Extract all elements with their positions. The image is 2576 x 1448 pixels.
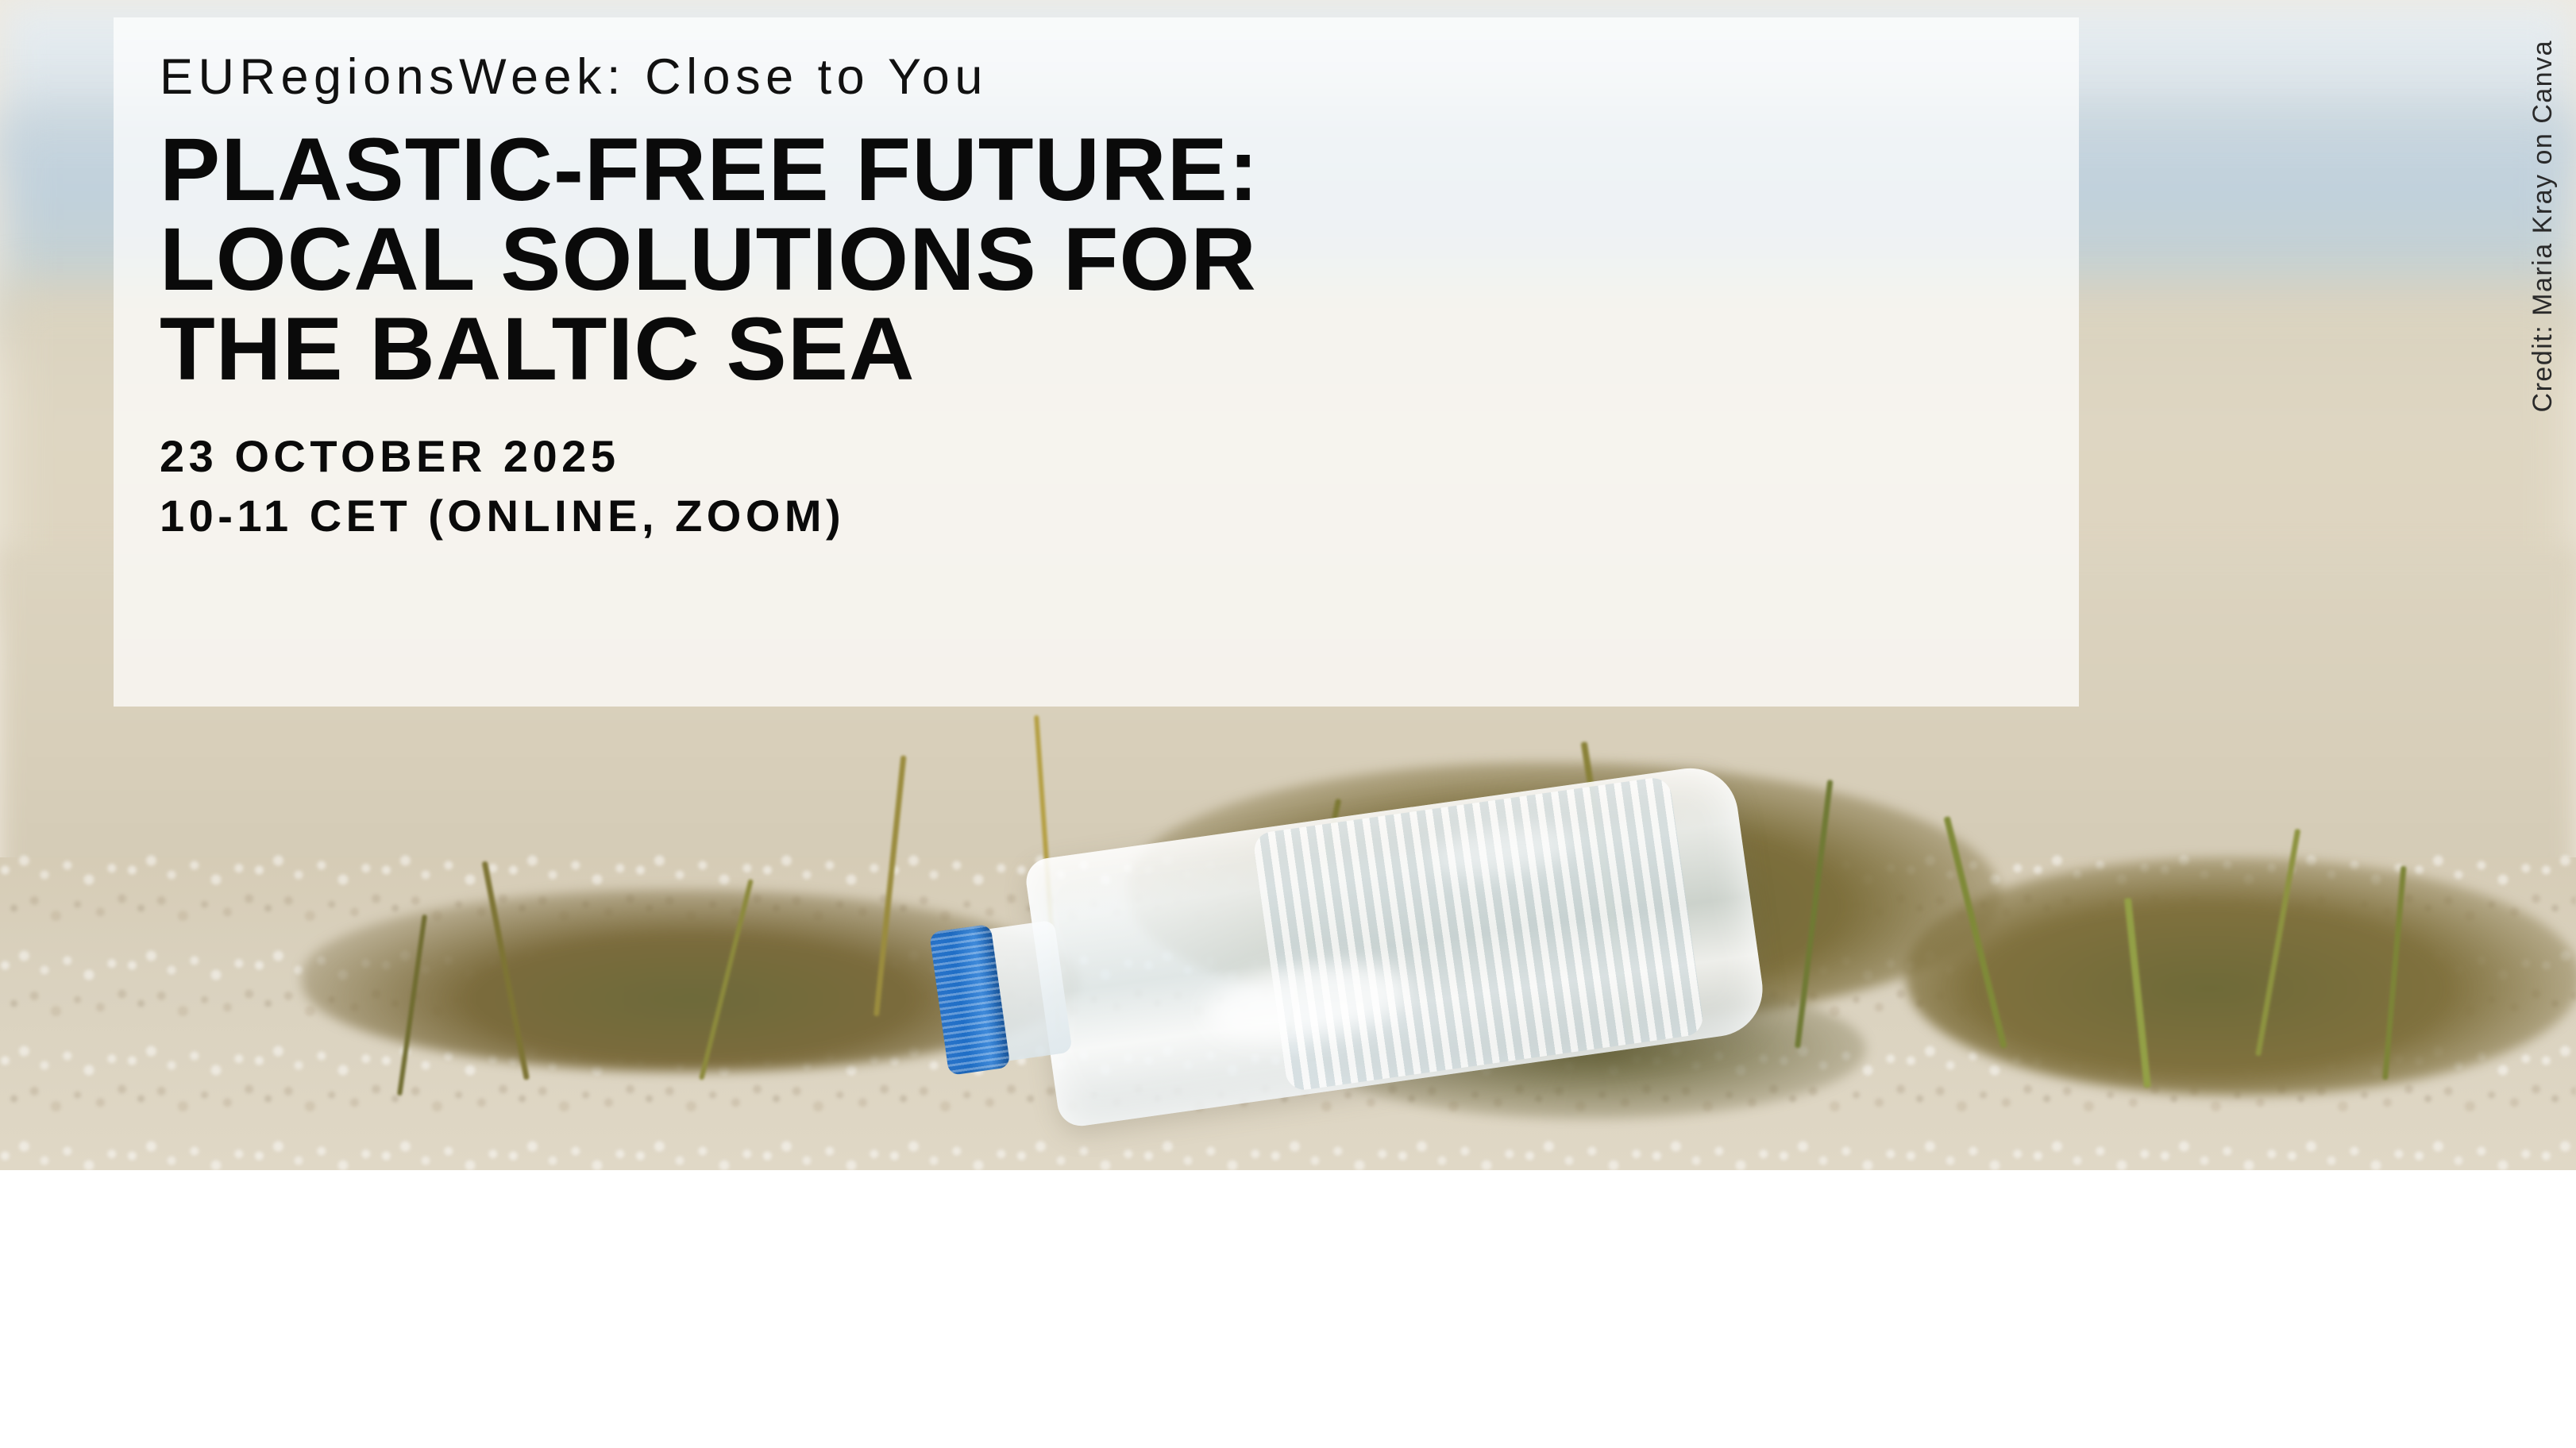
event-datetime: 23 OCTOBER 2025 10-11 CET (ONLINE, ZOOM)	[160, 427, 2079, 545]
headline-line-3: THE BALTIC SEA	[160, 304, 2117, 394]
page-title: PLASTIC-FREE FUTURE: LOCAL SOLUTIONS FOR…	[160, 125, 2117, 394]
event-series-label: EURegionsWeek: Close to You	[160, 52, 2079, 102]
seaweed-clump	[1906, 857, 2576, 1096]
title-panel: EURegionsWeek: Close to You PLASTIC-FREE…	[114, 17, 2079, 707]
photo-credit: Credit: Maria Kray on Canva	[2528, 40, 2559, 412]
event-date: 23 OCTOBER 2025	[160, 427, 2079, 486]
event-poster: EURegionsWeek: Close to You PLASTIC-FREE…	[0, 0, 2576, 1448]
sponsor-logo-bar: Interreg Interreg Baltic Sea Region	[0, 1170, 2576, 1448]
event-time: 10-11 CET (ONLINE, ZOOM)	[160, 487, 2079, 545]
headline-line-2: LOCAL SOLUTIONS FOR	[160, 214, 2117, 304]
headline-line-1: PLASTIC-FREE FUTURE:	[160, 125, 2117, 214]
